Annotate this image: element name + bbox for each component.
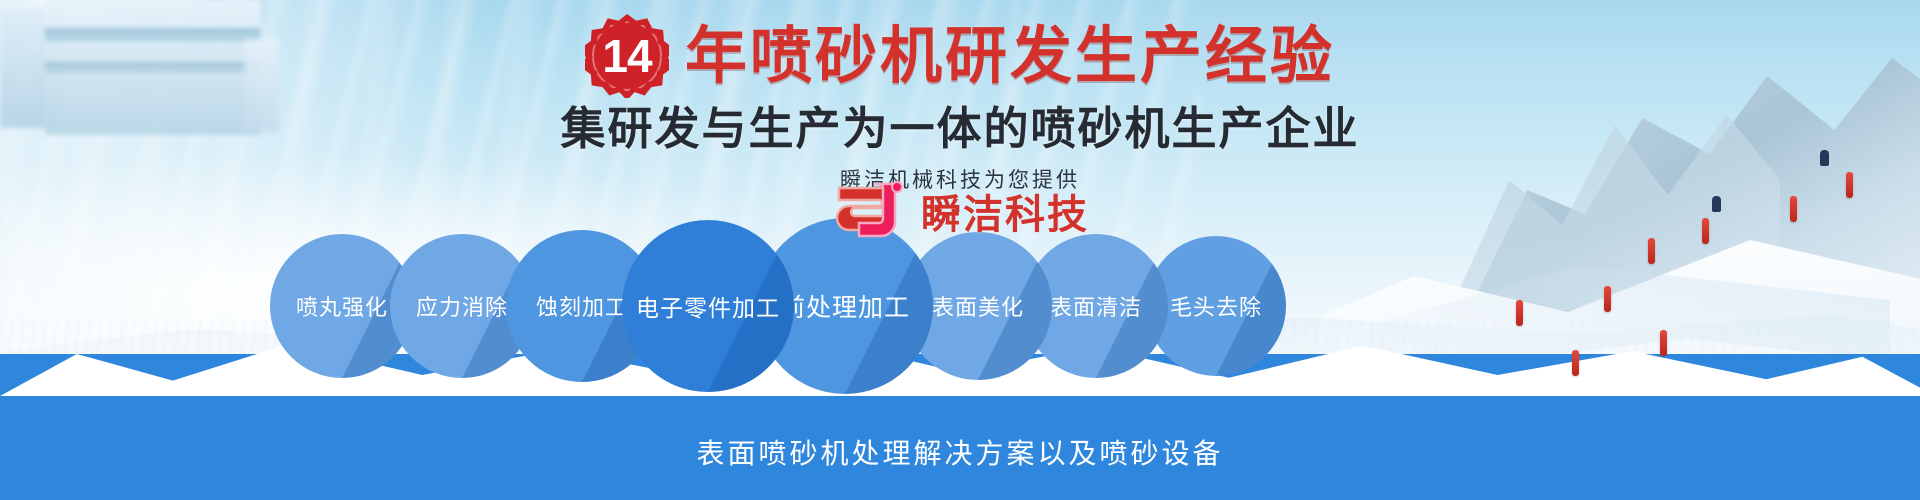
years-badge: 14 [585, 14, 669, 98]
headline-main-text: 年喷砂机研发生产经验 [685, 24, 1335, 88]
process-circle-label: 毛头去除 [1170, 290, 1262, 322]
brand-name-text: 瞬洁科技 [921, 182, 1089, 240]
bottom-caption-text: 表面喷砂机处理解决方案以及喷砂设备 [0, 432, 1920, 472]
promo-banner: 喷丸强化应力消除蚀刻加工电子零件加工前处理加工表面美化表面清洁毛头去除 14 年… [0, 0, 1920, 500]
headline-primary-row: 14 年喷砂机研发生产经验 [585, 14, 1335, 98]
process-circle-label: 蚀刻加工 [536, 290, 628, 322]
process-circle[interactable]: 电子零件加工 [622, 220, 794, 392]
headline-sub-text: 集研发与生产为一体的喷砂机生产企业 [560, 104, 1359, 154]
process-circle-label: 应力消除 [416, 290, 508, 322]
headline-block: 14 年喷砂机研发生产经验 集研发与生产为一体的喷砂机生产企业 瞬洁机械科技为您… [0, 14, 1920, 194]
sj-monogram-logo-icon [831, 178, 907, 244]
process-circle-label: 表面清洁 [1050, 290, 1142, 322]
process-circle-label: 前处理加工 [780, 288, 910, 324]
process-circle-label: 电子零件加工 [636, 289, 780, 323]
brand-logo-row: 瞬洁科技 [0, 178, 1920, 244]
process-circle-label: 喷丸强化 [296, 290, 388, 322]
process-circle-label: 表面美化 [932, 290, 1024, 322]
years-badge-number: 14 [602, 33, 651, 79]
